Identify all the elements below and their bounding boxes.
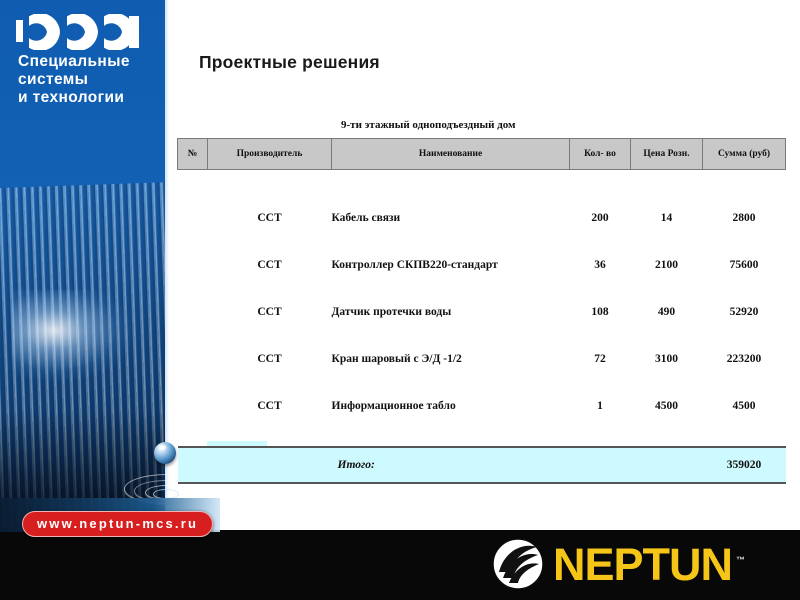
cell-price: 4500: [631, 400, 703, 447]
cell-number: [178, 306, 208, 353]
cell-name: Кабель связи: [332, 212, 570, 259]
cell-manufacturer: ССТ: [208, 259, 332, 306]
trademark-symbol: ™: [736, 538, 745, 583]
cell-price: 3100: [631, 353, 703, 400]
slide-canvas: Специальные системы и технологии Проектн…: [0, 0, 800, 600]
cell-sum: 52920: [703, 306, 786, 353]
cell-price: 2100: [631, 259, 703, 306]
cell-manufacturer: ССТ: [208, 353, 332, 400]
cell-manufacturer: ССТ: [208, 212, 332, 259]
table-row: ССТ Кабель связи 200 14 2800: [178, 212, 786, 259]
page-title: Проектные решения: [199, 52, 380, 73]
cell-number: [178, 212, 208, 259]
cell-name: Контроллер СКПВ220-стандарт: [332, 259, 570, 306]
cell-sum: 4500: [703, 400, 786, 447]
cell-quantity: 200: [570, 212, 631, 259]
table-head: № Производитель Наименование Кол- во Цен…: [178, 139, 786, 170]
cell-manufacturer: ССТ: [208, 306, 332, 353]
estimate-table: № Производитель Наименование Кол- во Цен…: [177, 138, 786, 484]
col-header-quantity: Кол- во: [570, 139, 631, 170]
cell-quantity: 108: [570, 306, 631, 353]
neptun-wordmark-text: NEPTUN: [553, 539, 732, 590]
estimate-table-wrapper: № Производитель Наименование Кол- во Цен…: [177, 138, 785, 484]
window-glint: [12, 290, 132, 380]
logo-tagline-line-2: системы: [18, 71, 159, 89]
total-empty-maker: [208, 447, 332, 483]
table-caption: 9-ти этажный одноподъездный дом: [341, 119, 516, 131]
cell-quantity: 1: [570, 400, 631, 447]
cell-quantity: 36: [570, 259, 631, 306]
sst-logo-mark: [16, 14, 148, 50]
table-header-row: № Производитель Наименование Кол- во Цен…: [178, 139, 786, 170]
company-logo: Специальные системы и технологии: [14, 14, 159, 106]
total-label: Итого:: [332, 447, 570, 483]
cell-sum: 2800: [703, 212, 786, 259]
table-row: ССТ Контроллер СКПВ220-стандарт 36 2100 …: [178, 259, 786, 306]
neptun-wordmark: NEPTUN ™: [553, 542, 732, 587]
table-row: ССТ Информационное табло 1 4500 4500: [178, 400, 786, 447]
cell-number: [178, 353, 208, 400]
total-empty-number: [178, 447, 208, 483]
logo-tagline-line-1: Специальные: [18, 53, 159, 71]
cell-name: Информационное табло: [332, 400, 570, 447]
col-header-price: Цена Розн.: [631, 139, 703, 170]
droplet-highlight: [159, 445, 166, 450]
cell-name: Кран шаровый с Э/Д -1/2: [332, 353, 570, 400]
neptun-wave-emblem-icon: [492, 538, 544, 590]
col-header-sum: Сумма (руб): [703, 139, 786, 170]
cell-number: [178, 400, 208, 447]
col-header-manufacturer: Производитель: [208, 139, 332, 170]
cell-name: Датчик протечки воды: [332, 306, 570, 353]
col-header-number: №: [178, 139, 208, 170]
table-spacer-row: [178, 170, 786, 212]
cell-sum: 75600: [703, 259, 786, 306]
cell-number: [178, 259, 208, 306]
col-header-name: Наименование: [332, 139, 570, 170]
table-spacer-cell: [178, 170, 786, 212]
cell-price: 14: [631, 212, 703, 259]
cell-quantity: 72: [570, 353, 631, 400]
total-value: 359020: [703, 447, 786, 483]
sst-logo-svg: [16, 14, 148, 50]
cell-manufacturer: ССТ: [208, 400, 332, 447]
website-url-link[interactable]: www.neptun-mcs.ru: [22, 511, 213, 537]
table-body: ССТ Кабель связи 200 14 2800 ССТ Контрол…: [178, 170, 786, 483]
table-row: ССТ Датчик протечки воды 108 490 52920: [178, 306, 786, 353]
cell-sum: 223200: [703, 353, 786, 400]
logo-tagline: Специальные системы и технологии: [18, 53, 159, 107]
logo-tagline-line-3: и технологии: [18, 89, 159, 107]
table-row: ССТ Кран шаровый с Э/Д -1/2 72 3100 2232…: [178, 353, 786, 400]
cell-price: 490: [631, 306, 703, 353]
total-empty-qty: [570, 447, 631, 483]
table-total-row: Итого: 359020: [178, 447, 786, 483]
neptun-logo: NEPTUN ™: [492, 536, 732, 592]
total-empty-price: [631, 447, 703, 483]
